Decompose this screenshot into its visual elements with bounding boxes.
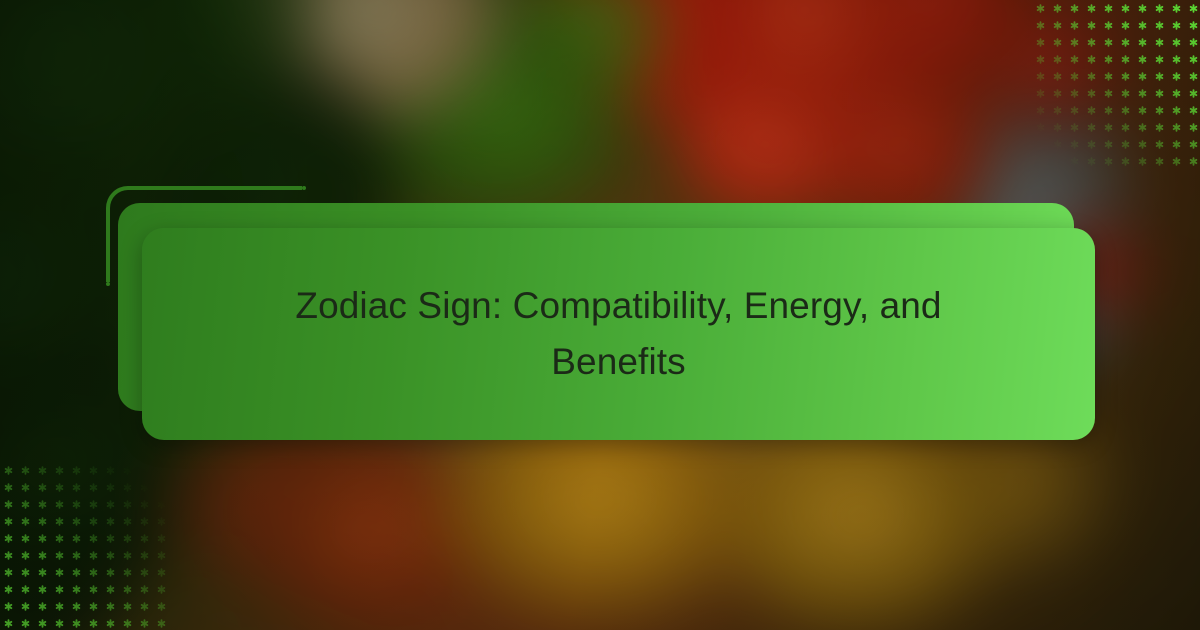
page-title: Zodiac Sign: Compatibility, Energy, and … bbox=[269, 278, 969, 390]
title-card: Zodiac Sign: Compatibility, Energy, and … bbox=[142, 228, 1095, 440]
banner-canvas: Zodiac Sign: Compatibility, Energy, and … bbox=[0, 0, 1200, 630]
